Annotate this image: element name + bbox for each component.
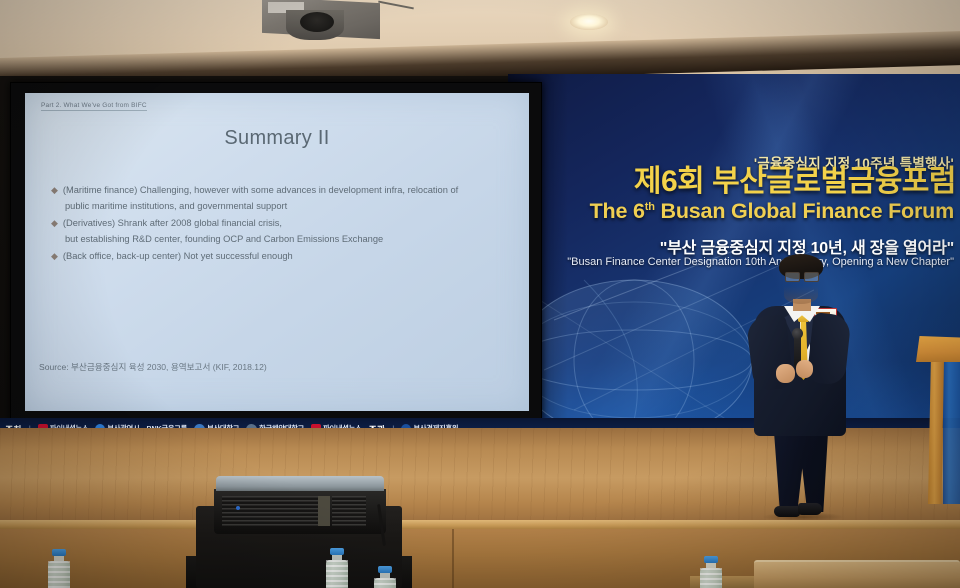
banner-subtitle-english: "Busan Finance Center Designation 10th A…	[508, 256, 954, 268]
bottle-body	[326, 560, 348, 588]
water-bottle	[700, 556, 722, 588]
av-projector	[214, 476, 386, 536]
speaker-shoe	[774, 506, 800, 517]
diamond-bullet-icon: ◆	[51, 249, 58, 263]
bottle-cap	[378, 566, 392, 573]
speaker-hand-left	[776, 364, 795, 383]
slide-bullet-list: ◆ (Maritime finance) Challenging, howeve…	[51, 183, 513, 265]
eyeglass-lens	[785, 272, 800, 282]
projector-lens-icon	[300, 12, 334, 32]
projection-screen-frame: Part 2. What We've Got from BIFC Summary…	[10, 82, 542, 422]
event-backdrop-banner: '금융중심지 지정 10주년 특별행사' 제6회 부산글로벌금융포럼 The 6…	[508, 74, 960, 428]
lectern-column	[928, 360, 944, 504]
bottle-ribs	[326, 560, 348, 588]
list-item: ◆ (Derivatives) Shrank after 2008 global…	[51, 216, 513, 231]
projector-vent-grill	[222, 496, 318, 526]
slide-title: Summary II	[25, 127, 529, 150]
panel-seam	[452, 529, 454, 588]
list-item: ◆ (Back office, back-up center) Not yet …	[51, 249, 513, 264]
bottle-body	[48, 561, 70, 588]
projector-panel	[318, 496, 330, 526]
projector-status-led	[236, 506, 240, 510]
lectern-top	[916, 336, 960, 362]
list-item: ◆ (Maritime finance) Challenging, howeve…	[51, 183, 513, 198]
banner-subtitle-korean: "부산 금융중심지 지정 10년, 새 장을 열어라"	[508, 234, 954, 258]
bottle-cap	[704, 556, 718, 563]
bottle-body	[700, 568, 722, 588]
speaker-shoe	[798, 503, 822, 515]
speaker-face-shading	[784, 286, 818, 304]
audience-seat-back	[754, 560, 960, 588]
conference-photo-scene: '금융중심지 지정 10주년 특별행사' 제6회 부산글로벌금융포럼 The 6…	[0, 0, 960, 588]
stage-front-panel-left	[0, 529, 196, 588]
bottle-body	[374, 578, 396, 588]
water-bottle	[374, 566, 396, 588]
water-bottle	[48, 549, 70, 588]
speaker	[740, 256, 860, 520]
speaker-hand-right	[796, 360, 813, 378]
water-bottle	[326, 548, 348, 588]
bottle-ribs	[48, 561, 70, 588]
banner-title-english: The 6th Busan Global Finance Forum	[508, 201, 954, 223]
bottle-cap	[52, 549, 66, 556]
bullet-text: (Back office, back-up center) Not yet su…	[63, 249, 293, 264]
diamond-bullet-icon: ◆	[51, 216, 58, 230]
banner-title-english-post: Busan Global Finance Forum	[655, 199, 954, 223]
eyeglass-lens	[804, 272, 819, 282]
slide-source-note: Source: 부산금융중심지 육성 2030, 용역보고서 (KIF, 201…	[39, 361, 267, 373]
lectern	[916, 336, 960, 504]
projector-top-cover	[216, 476, 384, 491]
projection-screen: Part 2. What We've Got from BIFC Summary…	[25, 93, 529, 411]
banner-title-english-pre: The 6	[590, 199, 645, 223]
bullet-subtext: but establishing R&D center, founding OC…	[65, 232, 513, 247]
bullet-text: (Maritime finance) Challenging, however …	[63, 183, 458, 198]
speaker-legs	[770, 428, 832, 512]
banner-title-korean: 제6회 부산글로벌금융포럼	[508, 167, 956, 197]
bottle-ribs	[700, 568, 722, 588]
microphone-head-icon	[792, 328, 803, 339]
projector-cable	[378, 1, 414, 10]
slide-kicker: Part 2. What We've Got from BIFC	[41, 102, 147, 111]
bottle-ribs	[374, 578, 396, 588]
diamond-bullet-icon: ◆	[51, 183, 58, 197]
bottle-cap	[330, 548, 344, 555]
bullet-subtext: public maritime institutions, and govern…	[65, 199, 513, 214]
projector-vent-grill	[332, 496, 366, 526]
downlight-icon	[570, 14, 608, 30]
bullet-text: (Derivatives) Shrank after 2008 global f…	[63, 216, 282, 231]
presentation-slide: Part 2. What We've Got from BIFC Summary…	[25, 93, 529, 411]
banner-title-ordinal: th	[645, 201, 655, 213]
eyeglasses-icon	[785, 272, 817, 280]
lectern-side	[943, 342, 960, 504]
